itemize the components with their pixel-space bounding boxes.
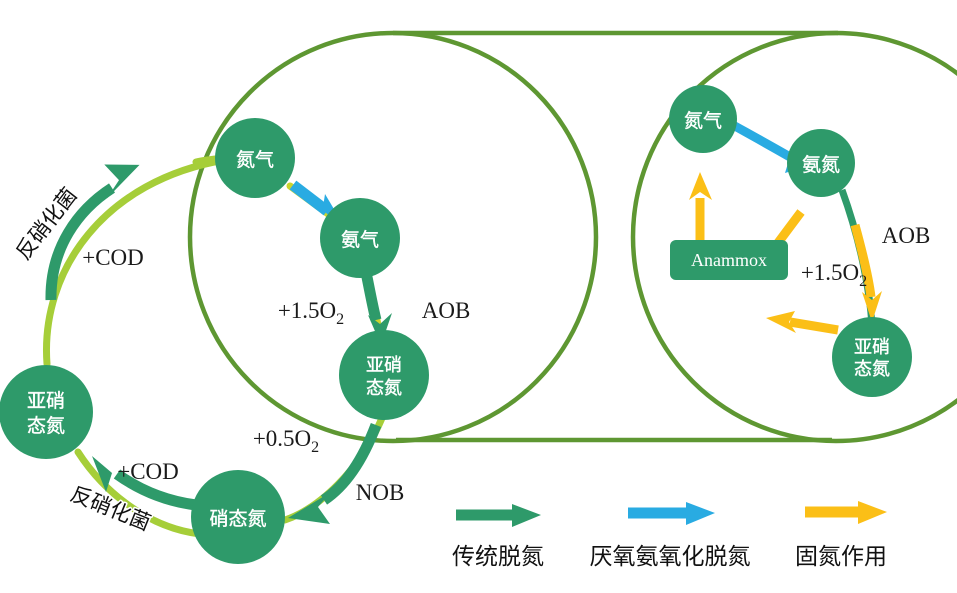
arrow-n2-to-ammonia-shaft <box>733 125 790 157</box>
node-ammonia-right[interactable]: 氨氮 <box>787 129 855 197</box>
node-n2-left-label: 氮气 <box>236 149 274 171</box>
legend-label-anammox: 厌氧氨氧化脱氮 <box>590 543 751 569</box>
legend-arrow-conventional-head <box>512 504 541 527</box>
node-nitrite-right-circle[interactable] <box>832 317 912 397</box>
arrow-n2-to-nh3-shaft <box>293 185 327 211</box>
label-aob-right: AOB <box>882 223 931 248</box>
label-oxygen-1-5-left: +1.5O2 <box>278 298 344 328</box>
label-aob-left: AOB <box>422 298 471 323</box>
node-nitrite-outer-label-2: 态氮 <box>27 415 65 437</box>
node-nitrite-right[interactable]: 亚硝 态氮 <box>832 317 912 397</box>
node-nitrite-outer[interactable]: 亚硝 态氮 <box>0 365 93 459</box>
legend-label-fixation: 固氮作用 <box>795 543 887 569</box>
nitrogen-cycle-diagram: 亚硝 态氮 硝态氮 氮气 氨气 亚硝 态氮 氮气 氨氮 <box>0 0 957 593</box>
node-nitrate-outer[interactable]: 硝态氮 <box>191 470 285 564</box>
legend-item-conventional[interactable]: 传统脱氮 <box>452 504 544 569</box>
legend-label-conventional: 传统脱氮 <box>452 543 544 569</box>
node-nitrite-left-label-2: 态氮 <box>366 378 402 398</box>
legend-item-anammox[interactable]: 厌氧氨氧化脱氮 <box>590 502 751 569</box>
node-nitrite-outer-circle[interactable] <box>0 365 93 459</box>
legend-item-fixation[interactable]: 固氮作用 <box>795 501 887 569</box>
node-nh3-left-label: 氨气 <box>341 229 379 251</box>
arrow-nh3-to-nitrite-shaft <box>366 272 376 320</box>
node-nitrite-left[interactable]: 亚硝 态氮 <box>339 330 429 420</box>
node-nitrite-outer-label-1: 亚硝 <box>27 390 65 412</box>
label-oxygen-1-5-right: +1.5O2 <box>801 260 867 290</box>
node-nitrate-outer-label: 硝态氮 <box>209 508 266 530</box>
arrow-nitrite-to-anammox-shaft <box>790 322 838 330</box>
anammox-box-label: Anammox <box>691 250 767 270</box>
label-cod-upper: +COD <box>82 245 144 270</box>
node-nitrite-left-circle[interactable] <box>339 330 429 420</box>
node-nh3-left[interactable]: 氨气 <box>320 198 400 278</box>
arrow-anammox-to-n2-head <box>689 172 712 200</box>
label-nob-left: NOB <box>356 480 405 505</box>
node-nitrite-right-label-2: 态氮 <box>854 359 890 379</box>
node-ammonia-right-label: 氨氮 <box>802 154 840 176</box>
anammox-box[interactable]: Anammox <box>670 240 788 280</box>
node-n2-right[interactable]: 氮气 <box>669 85 737 153</box>
node-n2-left[interactable]: 氮气 <box>215 118 295 198</box>
legend-arrow-fixation-head <box>858 501 887 524</box>
node-nitrite-right-label-1: 亚硝 <box>854 337 890 357</box>
legend-arrow-anammox-head <box>686 502 715 525</box>
legend: 传统脱氮 厌氧氨氧化脱氮 固氮作用 <box>452 501 887 569</box>
diagram-canvas: 亚硝 态氮 硝态氮 氮气 氨气 亚硝 态氮 氮气 氨氮 <box>0 0 957 593</box>
label-cod-lower: +COD <box>117 459 179 484</box>
node-n2-right-label: 氮气 <box>684 110 722 132</box>
label-oxygen-0-5-left: +0.5O2 <box>253 426 319 456</box>
node-nitrite-left-label-1: 亚硝 <box>366 355 402 375</box>
